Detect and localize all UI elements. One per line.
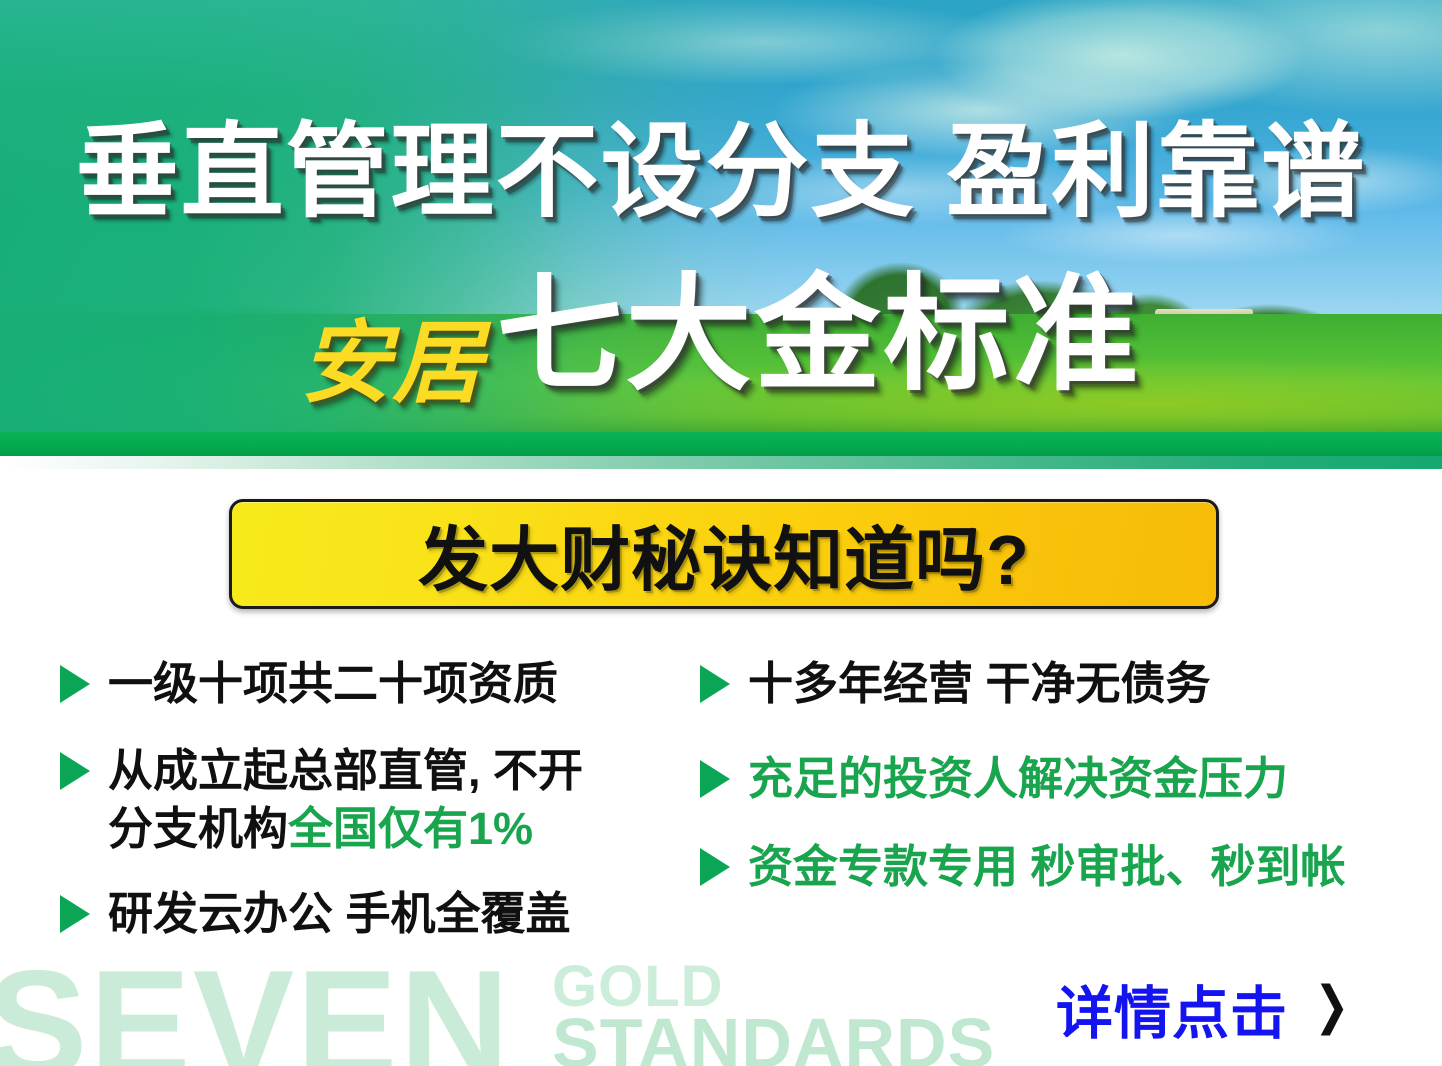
triangle-bullet-icon	[700, 848, 730, 886]
bullet-left-2: 从成立起总部直管, 不开 分支机构全国仅有1%	[60, 742, 690, 859]
bullet-left-2-highlight: 全国仅有1%	[288, 803, 533, 854]
bullet-right-3-text: 资金专款专用 秒审批、秒到帐	[748, 838, 1346, 897]
feature-bullets: 一级十项共二十项资质 从成立起总部直管, 不开 分支机构全国仅有1% 研发云办公…	[0, 655, 1442, 985]
bullet-left-3: 研发云办公 手机全覆盖	[60, 885, 690, 944]
bullet-right-2: 充足的投资人解决资金压力	[700, 750, 1430, 809]
hero-section: 垂直管理不设分支 盈利靠谱 安居七大金标准	[0, 0, 1442, 456]
question-banner[interactable]: 发大财秘诀知道吗?	[229, 499, 1219, 609]
bullet-column-left: 一级十项共二十项资质 从成立起总部直管, 不开 分支机构全国仅有1% 研发云办公…	[60, 655, 690, 965]
bullet-left-3-text: 研发云办公 手机全覆盖	[108, 885, 571, 944]
chevron-right-icon: ❯	[1314, 980, 1349, 1032]
hero-headline-primary: 垂直管理不设分支 盈利靠谱	[0, 118, 1442, 226]
hero-brand-word: 安居	[301, 319, 485, 409]
question-banner-text: 发大财秘诀知道吗?	[418, 504, 1030, 605]
watermark-standards: STANDARDS	[552, 1008, 995, 1066]
bullet-left-2-text: 从成立起总部直管, 不开 分支机构全国仅有1%	[108, 742, 583, 859]
details-cta-button[interactable]: 详情点击 ❯	[1056, 968, 1354, 1050]
hero-headline-standards: 七大金标准	[497, 272, 1142, 398]
bullet-right-2-text: 充足的投资人解决资金压力	[748, 750, 1288, 809]
triangle-bullet-icon	[700, 665, 730, 703]
triangle-bullet-icon	[60, 752, 90, 790]
bullet-left-1-text: 一级十项共二十项资质	[108, 655, 558, 714]
details-cta-label: 详情点击	[1056, 968, 1288, 1050]
hero-divider	[0, 456, 1442, 469]
ad-banner-page: 垂直管理不设分支 盈利靠谱 安居七大金标准 发大财秘诀知道吗? SEVEN GO…	[0, 0, 1442, 1066]
bullet-right-3: 资金专款专用 秒审批、秒到帐	[700, 838, 1430, 897]
triangle-bullet-icon	[60, 895, 90, 933]
bullet-column-right: 十多年经营 干净无债务 充足的投资人解决资金压力 资金专款专用 秒审批、秒到帐	[700, 655, 1430, 919]
triangle-bullet-icon	[700, 760, 730, 798]
hero-bottom-green-band	[0, 432, 1442, 456]
bullet-left-1: 一级十项共二十项资质	[60, 655, 690, 714]
bullet-right-1-text: 十多年经营 干净无债务	[748, 655, 1211, 714]
hero-headline-secondary: 安居七大金标准	[0, 272, 1442, 398]
bullet-right-1: 十多年经营 干净无债务	[700, 655, 1430, 714]
triangle-bullet-icon	[60, 665, 90, 703]
